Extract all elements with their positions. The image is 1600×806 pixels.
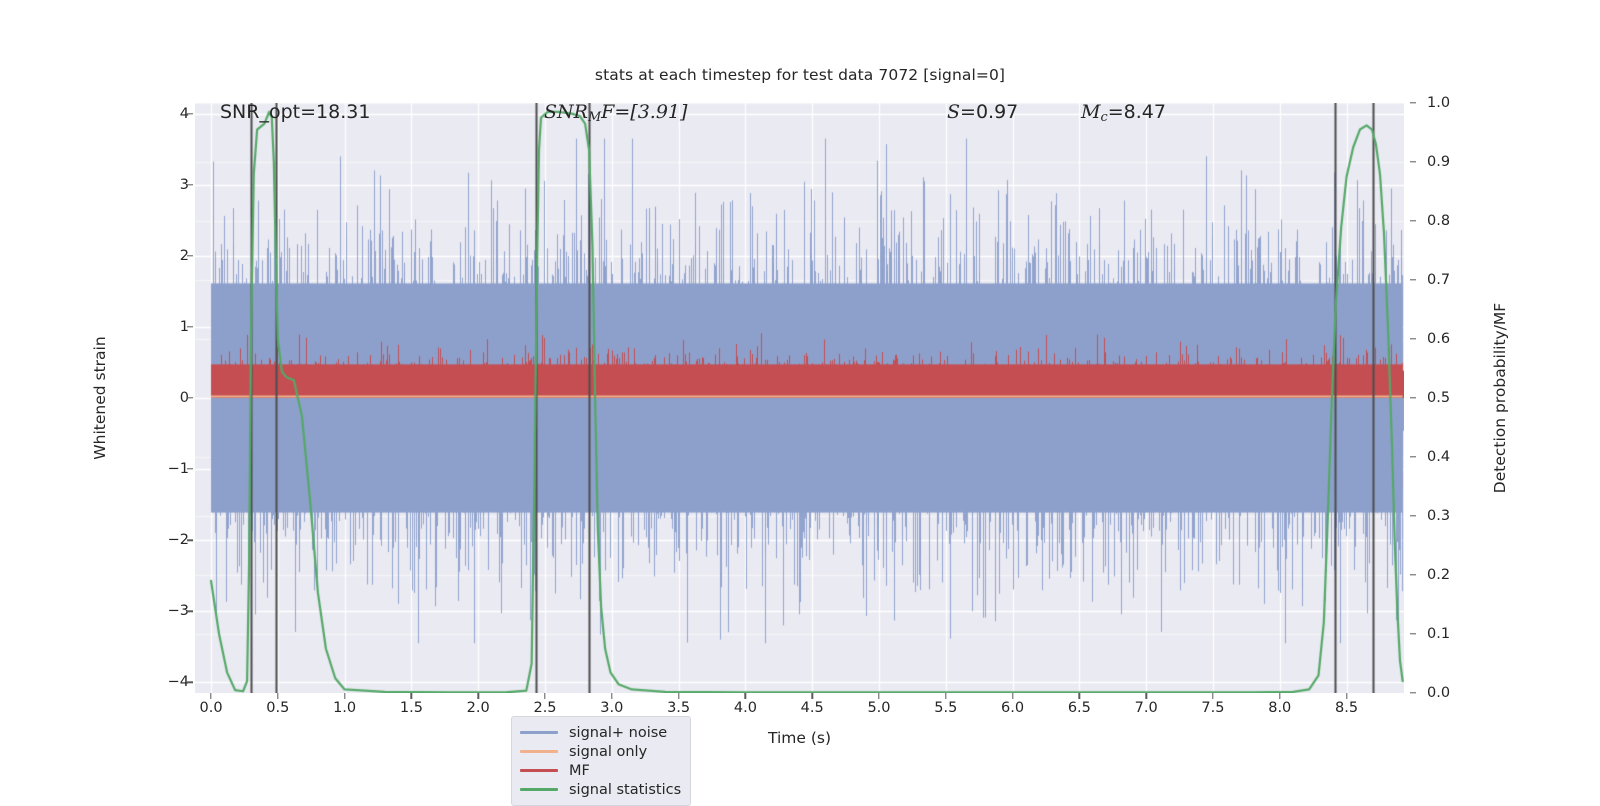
y-tick-label-right: 0.2: [1427, 567, 1450, 583]
x-tick-label: 4.0: [734, 700, 757, 716]
legend-item: MF: [520, 761, 681, 780]
y-tick-mark-right: [1410, 220, 1416, 221]
legend-line-signal-statistics: [520, 788, 558, 791]
y-tick-label-left: −3: [168, 603, 189, 619]
x-tick-mark: [811, 693, 812, 699]
legend-line-signal-only: [520, 750, 558, 753]
y-tick-mark-right: [1410, 102, 1416, 103]
y-tick-label-right: 0.0: [1427, 685, 1450, 701]
annotation-snr-mf-subscript: M: [588, 110, 601, 125]
x-tick-label: 4.5: [801, 700, 824, 716]
x-tick-label: 3.5: [667, 700, 690, 716]
y-tick-mark-left: [187, 184, 193, 185]
x-tick-mark: [678, 693, 679, 699]
legend-label: MF: [569, 763, 590, 779]
y-tick-label-right: 0.1: [1427, 626, 1450, 642]
x-tick-label: 0.0: [199, 700, 222, 716]
x-tick-label: 7.0: [1135, 700, 1158, 716]
x-tick-mark: [411, 693, 412, 699]
y-tick-label-right: 0.7: [1427, 272, 1450, 288]
y-tick-label-right: 0.8: [1427, 213, 1450, 229]
y-tick-mark-right: [1410, 515, 1416, 516]
y-tick-label-right: 0.5: [1427, 390, 1450, 406]
y-tick-mark-left: [187, 682, 193, 683]
plot-drawing-surface: [195, 103, 1404, 693]
y-axis-label-left: Whitened strain: [91, 298, 109, 498]
x-tick-mark: [945, 693, 946, 699]
y-tick-mark-left: [187, 113, 193, 114]
y-tick-mark-left: [187, 397, 193, 398]
x-tick-label: 6.5: [1068, 700, 1091, 716]
y-tick-label-right: 0.3: [1427, 508, 1450, 524]
x-tick-mark: [1012, 693, 1013, 699]
y-tick-label-left: −2: [168, 532, 189, 548]
y-tick-mark-right: [1410, 692, 1416, 693]
y-tick-mark-right: [1410, 397, 1416, 398]
x-tick-label: 5.0: [867, 700, 890, 716]
x-tick-label: 8.0: [1268, 700, 1291, 716]
y-tick-mark-right: [1410, 456, 1416, 457]
annotation-mc-number: =8.47: [1108, 101, 1166, 123]
legend-label: signal statistics: [569, 782, 681, 798]
x-tick-label: 7.5: [1201, 700, 1224, 716]
x-tick-mark: [1346, 693, 1347, 699]
x-tick-label: 3.0: [600, 700, 623, 716]
x-tick-label: 0.5: [266, 700, 289, 716]
y-tick-label-right: 0.6: [1427, 331, 1450, 347]
x-tick-mark: [1279, 693, 1280, 699]
y-tick-mark-right: [1410, 574, 1416, 575]
y-tick-mark-right: [1410, 633, 1416, 634]
y-tick-mark-left: [187, 468, 193, 469]
y-tick-mark-right: [1410, 161, 1416, 162]
x-tick-label: 1.0: [333, 700, 356, 716]
x-tick-mark: [611, 693, 612, 699]
legend-line-mf: [520, 769, 558, 772]
annotation-s-number: =0.97: [960, 101, 1018, 123]
annotation-mc-subscript: c: [1100, 110, 1107, 125]
y-tick-mark-left: [187, 611, 193, 612]
y-tick-label-right: 1.0: [1427, 95, 1450, 111]
y-tick-mark-right: [1410, 279, 1416, 280]
annotation-snr-mf: SNRMF=[3.91]: [544, 103, 687, 125]
x-tick-mark: [344, 693, 345, 699]
x-tick-label: 2.0: [467, 700, 490, 716]
annotation-snr-mf-suffix: F=[3.91]: [601, 101, 687, 123]
y-tick-mark-left: [187, 326, 193, 327]
plot-axes: SNR_opt=18.31 SNRMF=[3.91] S=0.97 Mc=8.4…: [195, 103, 1404, 693]
legend-item: signal statistics: [520, 780, 681, 799]
x-tick-label: 6.0: [1001, 700, 1024, 716]
y-tick-mark-left: [187, 255, 193, 256]
annotation-snr-opt: SNR_opt=18.31: [220, 103, 370, 122]
x-tick-label: 5.5: [934, 700, 957, 716]
annotation-mc-symbol: M: [1081, 101, 1100, 123]
x-tick-mark: [277, 693, 278, 699]
x-tick-label: 1.5: [400, 700, 423, 716]
y-tick-label-left: −4: [168, 674, 189, 690]
x-tick-mark: [210, 693, 211, 699]
figure-canvas: stats at each timestep for test data 707…: [0, 0, 1600, 800]
x-tick-mark: [1212, 693, 1213, 699]
x-tick-mark: [1079, 693, 1080, 699]
annotation-snr-mf-prefix: SNR: [544, 101, 588, 123]
x-tick-mark: [745, 693, 746, 699]
annotation-mc-value: Mc=8.47: [1081, 103, 1166, 125]
annotation-s-symbol: S: [947, 101, 960, 123]
x-tick-mark: [478, 693, 479, 699]
y-tick-mark-left: [187, 539, 193, 540]
y-axis-label-right: Detection probability/MF: [1491, 298, 1509, 498]
annotation-s-value: S=0.97: [947, 103, 1018, 122]
x-tick-mark: [878, 693, 879, 699]
y-tick-label-right: 0.4: [1427, 449, 1450, 465]
x-tick-mark: [544, 693, 545, 699]
x-tick-label: 2.5: [533, 700, 556, 716]
y-tick-mark-right: [1410, 338, 1416, 339]
y-tick-label-left: −1: [168, 461, 189, 477]
x-tick-label: 8.5: [1335, 700, 1358, 716]
y-tick-label-right: 0.9: [1427, 154, 1450, 170]
figure-title: stats at each timestep for test data 707…: [0, 66, 1600, 84]
x-axis-label: Time (s): [195, 729, 1404, 747]
x-tick-mark: [1145, 693, 1146, 699]
